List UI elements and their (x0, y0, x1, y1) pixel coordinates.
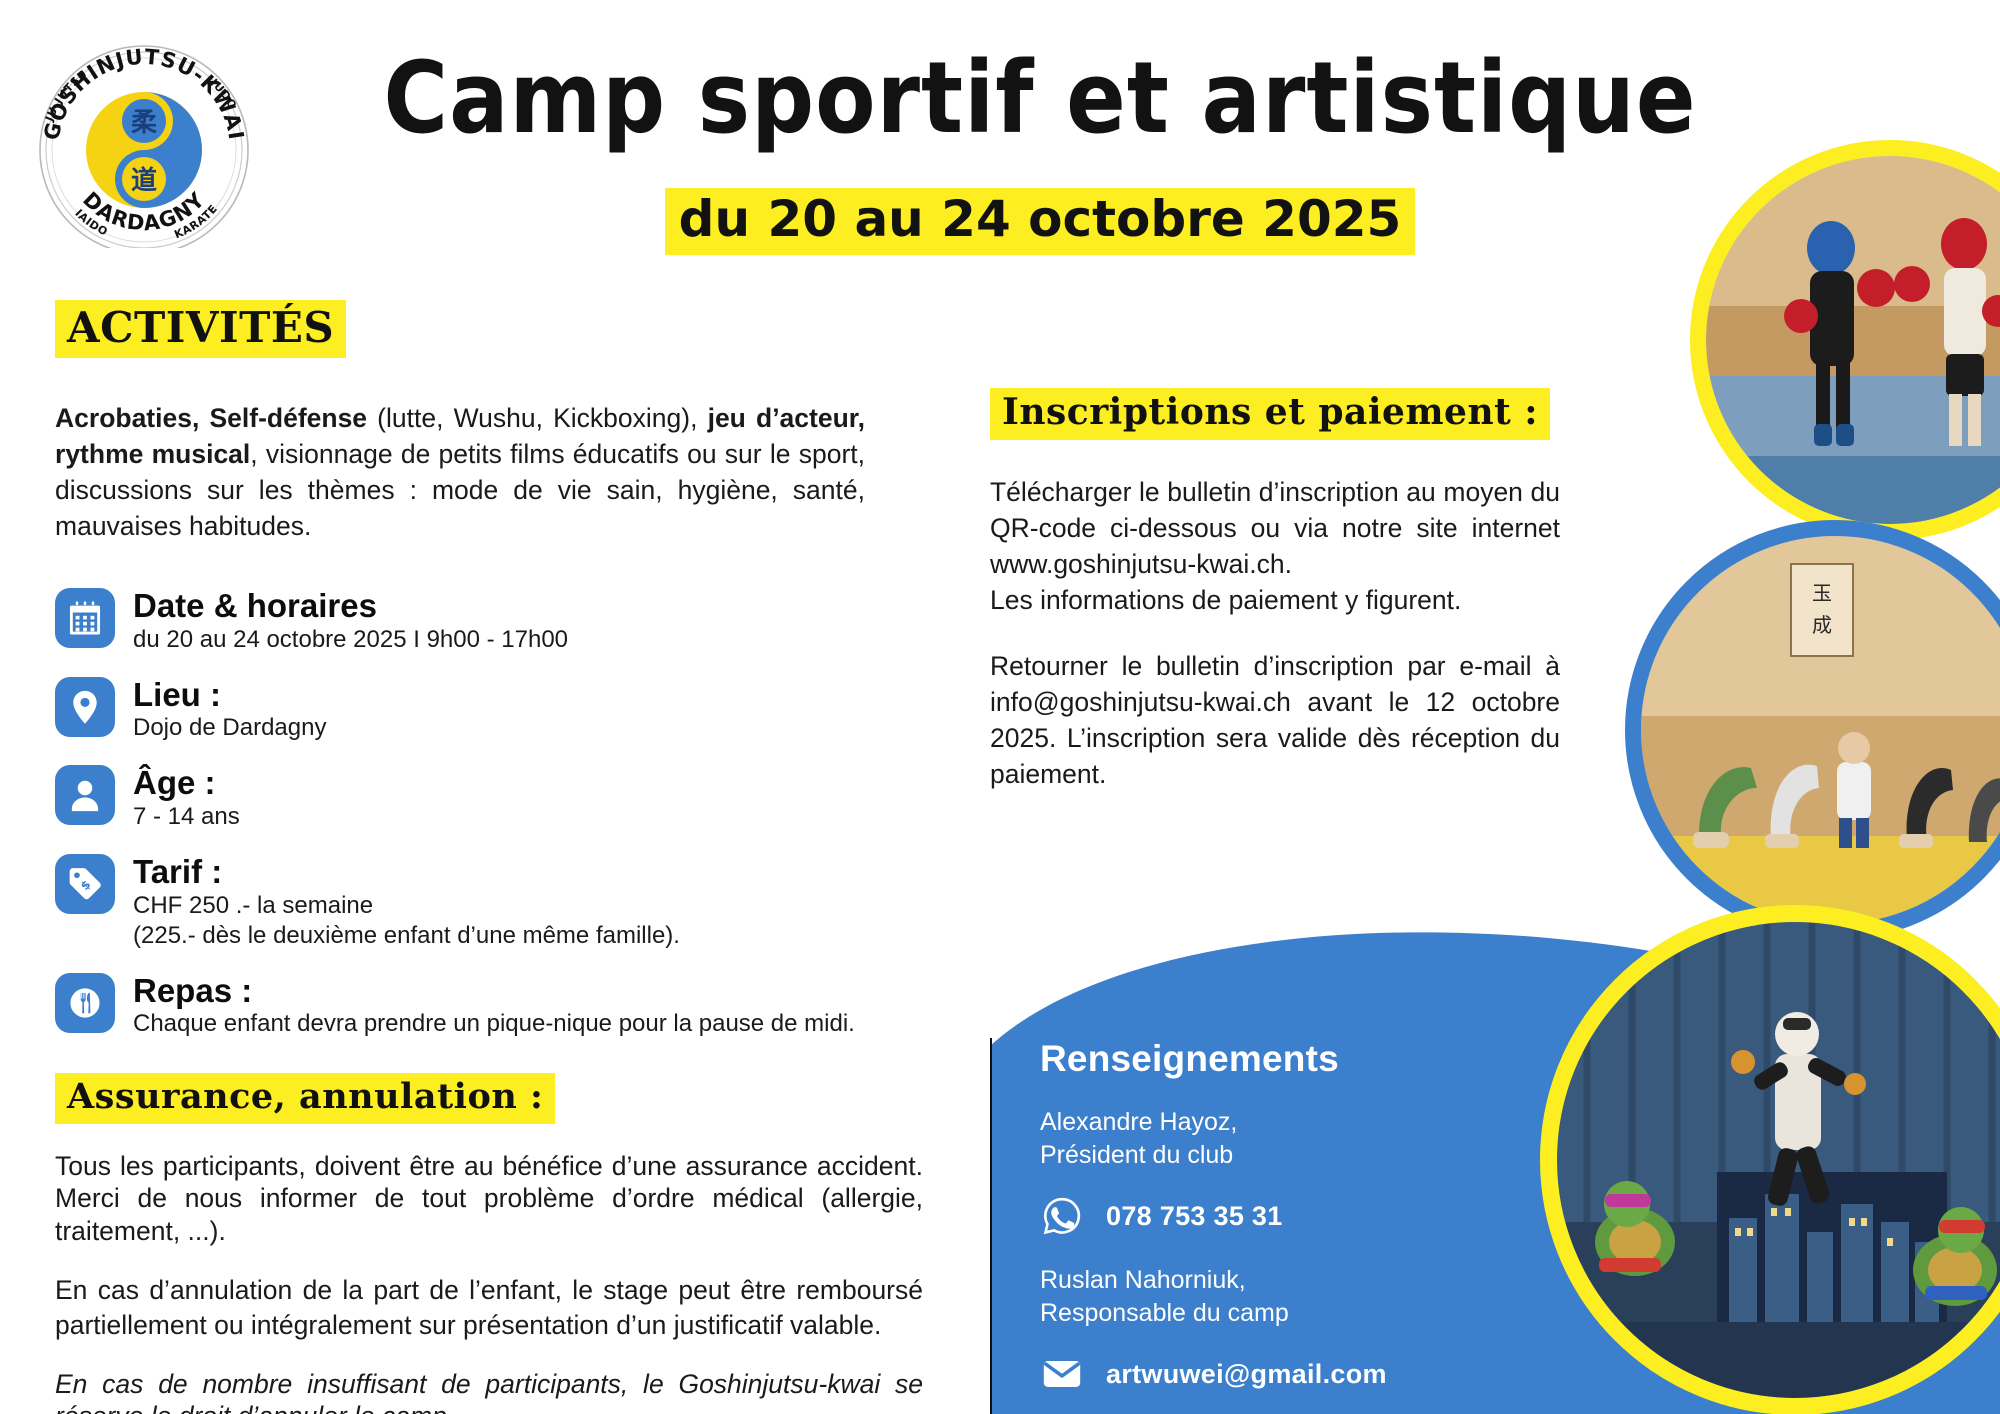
info-sub-age: 7 - 14 ans (133, 802, 240, 832)
info-body-date: Date & horaires du 20 au 24 octobre 2025… (133, 588, 568, 655)
price-tag-icon: $ (55, 854, 115, 914)
date-subtitle: du 20 au 24 octobre 2025 (665, 188, 1416, 255)
svg-text:柔: 柔 (131, 108, 157, 138)
contact-1-role: Président du club (1040, 1139, 1560, 1172)
assurance-paragraph-3: En cas de nombre insuffisant de particip… (55, 1368, 923, 1414)
info-body-repas: Repas : Chaque enfant devra prendre un p… (133, 973, 855, 1040)
subtitle-row: du 20 au 24 octobre 2025 (330, 188, 1750, 255)
inscriptions-paragraph-1b: Les informations de paiement y figurent. (990, 582, 1560, 618)
club-logo-svg: 柔 道 GOSHINJUTSU-KWAI DARDAGNY JU-JUTSU J… (30, 38, 258, 248)
info-title-age: Âge : (133, 765, 240, 801)
phone-number[interactable]: 078 753 35 31 (1106, 1201, 1283, 1232)
activities-heading: ACTIVITÉS (55, 300, 346, 358)
photo-performance (1540, 905, 2000, 1414)
assurance-block: Assurance, annulation : Tous les partici… (55, 1073, 895, 1414)
map-pin-icon (55, 677, 115, 737)
assurance-heading: Assurance, annulation : (55, 1073, 555, 1124)
inscriptions-paragraph-2: Retourner le bulletin d’inscription par … (990, 648, 1560, 792)
info-title-date: Date & horaires (133, 588, 568, 624)
inscriptions-column: Inscriptions et paiement : Télécharger l… (990, 388, 1560, 792)
phone-contact-row[interactable]: 078 753 35 31 (1040, 1194, 1560, 1238)
club-logo: 柔 道 GOSHINJUTSU-KWAI DARDAGNY JU-JUTSU J… (30, 38, 258, 248)
photo-boxing-image (1706, 156, 2000, 524)
assurance-paragraph-1: Tous les participants, doivent être au b… (55, 1150, 923, 1247)
svg-text:成: 成 (1812, 613, 1832, 637)
assurance-paragraph-2: En cas d’annulation de la part de l’enfa… (55, 1273, 923, 1342)
contact-2-name-block: Ruslan Nahorniuk, Responsable du camp (1040, 1264, 1560, 1330)
info-body-lieu: Lieu : Dojo de Dardagny (133, 677, 326, 744)
info-sub-date: du 20 au 24 octobre 2025 I 9h00 - 17h00 (133, 625, 568, 655)
contact-1-name-block: Alexandre Hayoz, Président du club (1040, 1106, 1560, 1172)
info-row-tarif: $ Tarif : CHF 250 .- la semaine (225.- d… (55, 854, 895, 951)
contact-1-name: Alexandre Hayoz, (1040, 1106, 1560, 1139)
inscriptions-heading: Inscriptions et paiement : (990, 388, 1550, 440)
info-row-lieu: Lieu : Dojo de Dardagny (55, 677, 895, 744)
info-title-tarif: Tarif : (133, 854, 680, 890)
inscriptions-paragraph-1: Télécharger le bulletin d’inscription au… (990, 474, 1560, 582)
svg-text:道: 道 (131, 165, 157, 196)
info-row-repas: Repas : Chaque enfant devra prendre un p… (55, 973, 895, 1040)
activities-paragraph: Acrobaties, Self-défense (lutte, Wushu, … (55, 400, 865, 544)
envelope-icon (1040, 1352, 1084, 1396)
meal-icon (55, 973, 115, 1033)
poster-root: 柔 道 GOSHINJUTSU-KWAI DARDAGNY JU-JUTSU J… (0, 0, 2000, 1414)
contact-2-role: Responsable du camp (1040, 1297, 1560, 1330)
svg-text:玉: 玉 (1812, 581, 1832, 605)
info-sub-lieu: Dojo de Dardagny (133, 713, 326, 743)
email-address[interactable]: artwuwei@gmail.com (1106, 1359, 1387, 1390)
info-sub-tarif: CHF 250 .- la semaine (225.- dès le deux… (133, 891, 680, 951)
info-title-repas: Repas : (133, 973, 855, 1009)
info-body-tarif: Tarif : CHF 250 .- la semaine (225.- dès… (133, 854, 680, 951)
calendar-icon (55, 588, 115, 648)
photo-handstands-image: 玉 成 (1641, 536, 2000, 924)
photo-performance-image (1557, 922, 2000, 1398)
contact-2-name: Ruslan Nahorniuk, (1040, 1264, 1560, 1297)
info-title-lieu: Lieu : (133, 677, 326, 713)
info-sub-repas: Chaque enfant devra prendre un pique-niq… (133, 1009, 855, 1039)
info-list: Date & horaires du 20 au 24 octobre 2025… (55, 588, 895, 1039)
person-icon (55, 765, 115, 825)
left-column: ACTIVITÉS Acrobaties, Self-défense (lutt… (55, 300, 895, 1414)
renseignements-content: Renseignements Alexandre Hayoz, Présiden… (1040, 1038, 1560, 1396)
info-row-age: Âge : 7 - 14 ans (55, 765, 895, 832)
photo-boxing (1690, 140, 2000, 540)
email-contact-row[interactable]: artwuwei@gmail.com (1040, 1352, 1560, 1396)
photo-handstands: 玉 成 (1625, 520, 2000, 940)
page-title: Camp sportif et artistique (330, 48, 1750, 149)
info-row-date: Date & horaires du 20 au 24 octobre 2025… (55, 588, 895, 655)
info-body-age: Âge : 7 - 14 ans (133, 765, 240, 832)
whatsapp-icon (1040, 1194, 1084, 1238)
renseignements-title: Renseignements (1040, 1038, 1560, 1080)
